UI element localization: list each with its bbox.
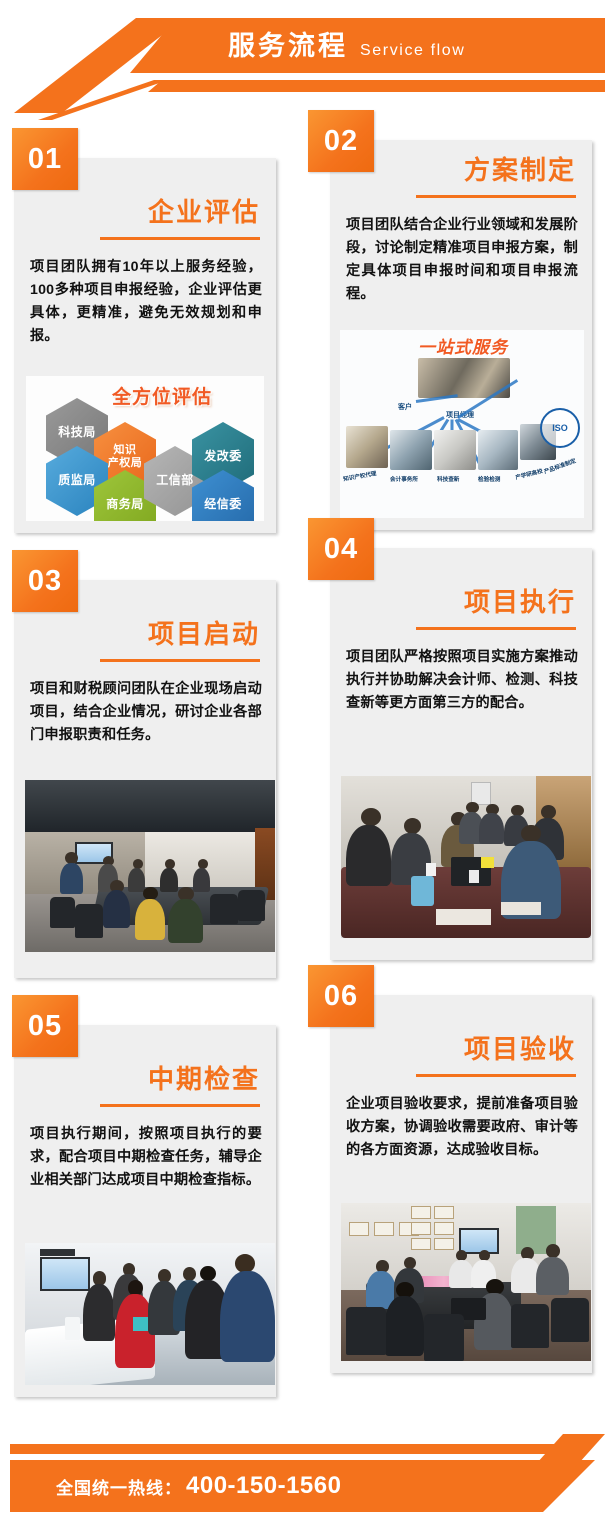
oss-thumb-novelty-search [434,430,476,470]
oss-seal-icon: ISO [540,408,580,448]
page-footer: 全国统一热线： 400-150-1560 [0,1408,605,1538]
midterm-inspection-visit-photo [25,1243,275,1385]
page-title: 服务流程 [228,22,348,70]
step-number-badge-05: 05 [12,995,78,1057]
step-title-03: 项目启动 [14,614,276,651]
step-body-03: 项目和财税顾问团队在企业现场启动项目，结合企业情况，研讨企业各部门申报职责和任务… [14,662,276,755]
step-body-02: 项目团队结合企业行业领域和发展阶段，讨论制定精准项目申报方案，制定具体项目申报时… [330,198,592,314]
step-card-02[interactable]: 02 方案制定 项目团队结合企业行业领域和发展阶段，讨论制定精准项目申报方案，制… [330,140,592,530]
step-title-05: 中期检查 [14,1059,276,1096]
step-card-01[interactable]: 01 企业评估 项目团队拥有10年以上服务经验，100多种项目申报经验，企业评估… [14,158,276,533]
footer-stripe-shape [10,1444,582,1454]
step-number-badge-03: 03 [12,550,78,612]
hex-diagram-title: 全方位评估 [112,382,212,409]
page-subtitle: Service flow [360,42,465,60]
oss-caption-university: 产学研高校 [514,467,543,482]
step-number-badge-06: 06 [308,965,374,1027]
project-kickoff-meeting-photo [25,780,275,952]
step-title-06: 项目验收 [330,1029,592,1066]
step-number-badge-04: 04 [308,518,374,580]
step-body-06: 企业项目验收要求，提前准备项目验收方案，协调验收需要政府、审计等的各方面资源，达… [330,1077,592,1170]
oss-label-customer: 客户 [398,402,412,412]
step-card-06[interactable]: 06 项目验收 企业项目验收要求，提前准备项目验收方案，协调验收需要政府、审计等… [330,995,592,1373]
step-body-04: 项目团队严格按照项目实施方案推动执行并协助解决会计师、检测、科技查新等更方面第三… [330,630,592,723]
all-round-assessment-diagram: 全方位评估 科技局 知识产权局 质监局 商务局 工信部 发改委 [26,376,264,521]
step-card-03[interactable]: 03 项目启动 项目和财税顾问团队在企业现场启动项目，结合企业情况，研讨企业各部… [14,580,276,978]
step-body-05: 项目执行期间，按照项目执行的要求，配合项目中期检查任务，辅导企业相关部门达成项目… [14,1107,276,1200]
hotline-number[interactable]: 400-150-1560 [186,1472,341,1500]
oss-diagram-title: 一站式服务 [418,333,508,358]
step-number-badge-01: 01 [12,128,78,190]
project-acceptance-meeting-photo [341,1203,591,1361]
oss-caption-ip: 知识产权代理 [343,469,377,483]
oss-caption-inspection: 检验检测 [478,475,500,483]
header-text-group: 服务流程 Service flow [228,22,465,70]
step-title-01: 企业评估 [14,192,276,229]
page-header: 服务流程 Service flow [0,0,605,110]
step-body-01: 项目团队拥有10年以上服务经验，100多种项目申报经验，企业评估更具体，更精准，… [14,240,276,356]
step-number-badge-02: 02 [308,110,374,172]
one-stop-service-diagram: 一站式服务 客户 项目经理 ISO [340,330,584,518]
hotline-group: 全国统一热线： 400-150-1560 [56,1460,341,1512]
step-card-05[interactable]: 05 中期检查 项目执行期间，按照项目执行的要求，配合项目中期检查任务，辅导企业… [14,1025,276,1397]
oss-thumb-inspection [478,430,518,470]
service-flow-infographic: 服务流程 Service flow 01 企业评估 项目团队拥有10年以上服务经… [0,0,605,1538]
hotline-label: 全国统一热线： [56,1474,182,1499]
oss-thumb-ip [346,426,388,468]
step-card-04[interactable]: 04 项目执行 项目团队严格按照项目实施方案推动执行并协助解决会计师、检测、科技… [330,548,592,960]
header-stripe-shape [148,80,605,92]
oss-caption-accounting: 会计事务所 [390,475,418,483]
oss-thumb-accounting [390,430,432,470]
project-execution-meeting-photo [341,776,591,938]
oss-caption-novelty: 科技查新 [437,475,459,483]
step-title-04: 项目执行 [330,582,592,619]
